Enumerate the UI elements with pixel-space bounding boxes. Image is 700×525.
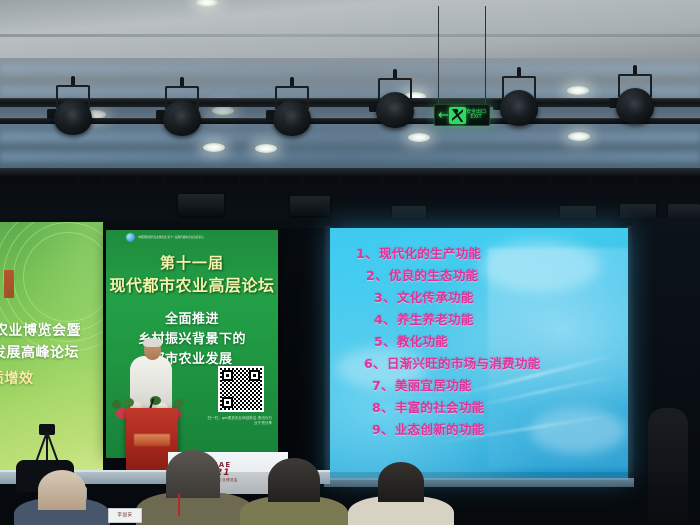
qr-code-caption: 扫一扫，get更多农业科技前沿 资讯与行业干货分享 — [206, 416, 272, 427]
lighting-truss-lower — [0, 118, 700, 124]
list-item-text: 优良的生态功能 — [389, 268, 479, 283]
speaker-hang-clip — [505, 176, 508, 189]
screen-content-list: 1、现代化的生产功能 2、优良的生态功能 3、文化传承功能 4、养生养老功能 5… — [352, 248, 628, 446]
banner-organizer-logo: 中国国际现代农业博览会 第十一届现代都市农业高层论坛 — [126, 233, 204, 242]
ceiling-downlight-icon — [203, 143, 225, 152]
ceiling-downlight-icon — [255, 144, 277, 153]
conference-hall-photo: ← 安全出口 EXIT 农业博览会暨 — [0, 0, 700, 525]
exit-arrow-icon: ← — [438, 109, 449, 122]
list-item: 1、现代化的生产功能 — [352, 248, 628, 261]
speaker-hang-clip — [380, 176, 383, 189]
ceiling-upper — [0, 0, 700, 60]
exit-sign-label: 安全出口 EXIT — [466, 110, 486, 121]
speaker-hang-clip — [199, 176, 202, 189]
speaker-hang-clip — [460, 176, 463, 189]
speaker-hang-clip — [338, 176, 341, 189]
list-item-number: 3、 — [374, 290, 396, 305]
speaker-hang-clip — [264, 176, 267, 189]
list-item-text: 日渐兴旺的市场与消费功能 — [387, 356, 541, 371]
list-item-text: 业态创新的功能 — [395, 422, 485, 437]
audience-member-head — [38, 470, 86, 510]
ceiling-downlight-icon — [568, 132, 590, 141]
speaker-hang-clip — [238, 176, 241, 189]
exit-running-man-icon — [449, 107, 466, 124]
list-item-text: 养生养老功能 — [397, 312, 474, 327]
list-item-number: 1、 — [356, 246, 378, 261]
list-item-number: 9、 — [372, 422, 394, 437]
speaker-hang-clip — [102, 176, 105, 189]
banner-logo-text: 中国国际现代农业博览会 第十一届现代都市农业高层论坛 — [138, 236, 204, 239]
left-banner-line1: 农业博览会暨 — [0, 320, 81, 340]
ceiling-band-3 — [0, 132, 700, 142]
banner-red-accent — [4, 270, 14, 298]
left-banner-line3: 质增效 — [0, 368, 34, 388]
speaker-hang-clip — [588, 176, 591, 189]
projection-screen: 1、现代化的生产功能 2、优良的生态功能 3、文化传承功能 4、养生养老功能 5… — [330, 228, 628, 480]
list-item-number: 6、 — [364, 356, 386, 371]
speaker-hang-clip — [300, 176, 303, 189]
table-name-card: 李国安 — [108, 508, 142, 523]
ceiling-downlight-icon — [408, 133, 430, 142]
exit-label-en: EXIT — [470, 114, 481, 120]
lighting-truss-secondary — [0, 168, 700, 176]
audience-lanyard — [178, 494, 180, 516]
line-array-speaker — [178, 194, 224, 216]
left-banner-line2: 发展高峰论坛 — [0, 342, 79, 362]
list-item: 3、文化传承功能 — [352, 292, 628, 305]
lighting-truss-main — [0, 98, 700, 107]
list-item-number: 2、 — [366, 268, 388, 283]
list-item: 6、日渐兴旺的市场与消费功能 — [352, 358, 628, 371]
list-item: 5、教化功能 — [352, 336, 628, 349]
podium-emblem — [134, 434, 170, 446]
list-item: 8、丰富的社会功能 — [352, 402, 628, 415]
ceiling-band-1 — [0, 64, 700, 74]
exit-sign-rod-right — [485, 6, 486, 104]
list-item-number: 8、 — [372, 400, 394, 415]
list-item-number: 7、 — [372, 378, 394, 393]
list-item-number: 5、 — [374, 334, 396, 349]
list-item: 2、优良的生态功能 — [352, 270, 628, 283]
list-item-text: 丰富的社会功能 — [395, 400, 485, 415]
speaker-hang-clip — [76, 176, 79, 189]
ceiling-band-4 — [0, 152, 700, 162]
exit-sign-rod-left — [438, 6, 439, 104]
audience-member-head — [378, 462, 424, 502]
organizer-logo-mark-icon — [126, 233, 135, 242]
speaker-hang-clip — [162, 176, 165, 189]
speaker-hang-clip — [548, 176, 551, 189]
stage-dark-gap — [278, 228, 326, 480]
list-item-text: 现代化的生产功能 — [379, 246, 481, 261]
banner-title-line2: 现代都市农业高层论坛 — [106, 272, 278, 296]
speaker-hang-clip — [136, 176, 139, 189]
emergency-exit-sign: ← 安全出口 EXIT — [434, 104, 490, 126]
speaker-hang-clip — [676, 176, 679, 189]
list-item-number: 4、 — [374, 312, 396, 327]
name-card-text: 李国安 — [109, 509, 141, 523]
banner-subtitle-line2: 乡村振兴背景下的 — [106, 328, 278, 347]
qr-code-icon — [218, 366, 264, 412]
ceiling-downlight-icon — [567, 86, 589, 95]
list-item-text: 教化功能 — [397, 334, 448, 349]
list-item: 4、养生养老功能 — [352, 314, 628, 327]
audience-member-head — [268, 458, 320, 502]
speaker-hang-clip — [418, 176, 421, 189]
line-array-speaker — [290, 196, 330, 216]
speaker-person-hair — [143, 338, 162, 347]
banner-subtitle-line1: 全面推进 — [106, 308, 278, 327]
list-item-text: 美丽宜居功能 — [395, 378, 472, 393]
list-item: 9、业态创新的功能 — [352, 424, 628, 437]
screen-frame-right — [627, 226, 634, 482]
ceiling-band-2 — [0, 86, 700, 96]
ceiling-seam — [0, 34, 700, 37]
speaker-hang-clip — [634, 176, 637, 189]
list-item: 7、美丽宜居功能 — [352, 380, 628, 393]
list-item-text: 文化传承功能 — [397, 290, 474, 305]
audience-member-head — [166, 450, 220, 498]
banner-title-line1: 第十一届 — [106, 252, 278, 273]
